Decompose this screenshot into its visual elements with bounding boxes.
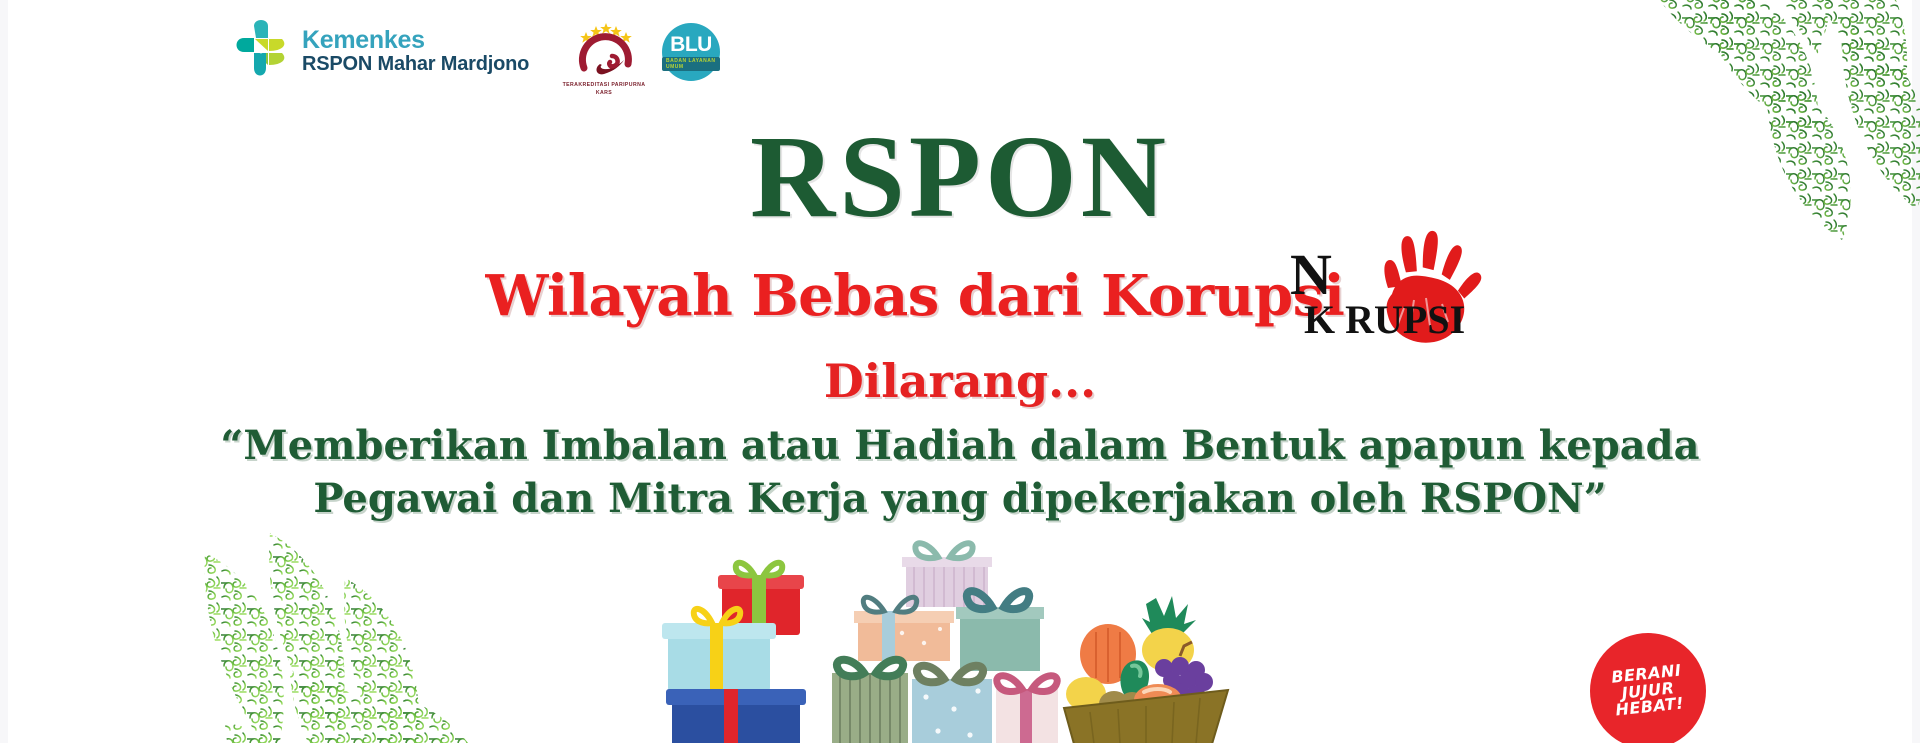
no-korupsi-stamp: N K RUPSI [1290, 222, 1490, 352]
prohibition-quote: “Memberikan Imbalan atau Hadiah dalam Be… [0, 420, 1920, 526]
kars-caption-line2: KARS [556, 90, 652, 98]
kars-accreditation-logo: TERAKREDITASI PARIPURNA KARS [556, 20, 652, 98]
quote-line-2: Pegawai dan Mitra Kerja yang dipekerjaka… [0, 473, 1920, 526]
kars-caption-line1: TERAKREDITASI PARIPURNA [556, 82, 652, 90]
blu-main-text: BLU [670, 34, 712, 55]
kemenkes-line1: Kemenkes [302, 27, 529, 53]
quote-line-1: “Memberikan Imbalan atau Hadiah dalam Be… [0, 420, 1920, 473]
kars-mark-icon [556, 20, 652, 76]
gift-boxes-watercolor-illustration [820, 539, 1070, 743]
gift-boxes-solid-illustration [650, 549, 860, 743]
fruit-basket-illustration [1060, 584, 1250, 743]
poster-canvas: Kemenkes RSPON Mahar Mardjono TERAKREDIT… [0, 0, 1920, 743]
kemenkes-line2: RSPON Mahar Mardjono [302, 54, 529, 75]
prohibition-label: Dilarang... [0, 358, 1920, 404]
blu-logo: BLU BADAN LAYANAN UMUM [660, 21, 722, 83]
kemenkes-logo: Kemenkes RSPON Mahar Mardjono [232, 20, 529, 82]
logo-row: Kemenkes RSPON Mahar Mardjono TERAKREDIT… [0, 6, 760, 102]
no-korupsi-word-no: N [1290, 246, 1331, 304]
subtitle-wilayah-bebas-korupsi: Wilayah Bebas dari Korupsi [0, 268, 1920, 324]
filigree-leaf-ornament-bottom-left [195, 523, 625, 743]
berani-jujur-hebat-badge: BERANI JUJUR HEBAT! [1590, 633, 1706, 743]
blu-disc-icon: BLU BADAN LAYANAN UMUM [662, 23, 720, 81]
blu-sub-text: BADAN LAYANAN UMUM [662, 57, 720, 71]
berani-line-3: HEBAT! [1614, 696, 1686, 720]
kemenkes-mark-icon [232, 20, 290, 82]
page-title: RSPON [0, 118, 1920, 236]
no-korupsi-word-korupsi: K RUPSI [1304, 300, 1465, 340]
